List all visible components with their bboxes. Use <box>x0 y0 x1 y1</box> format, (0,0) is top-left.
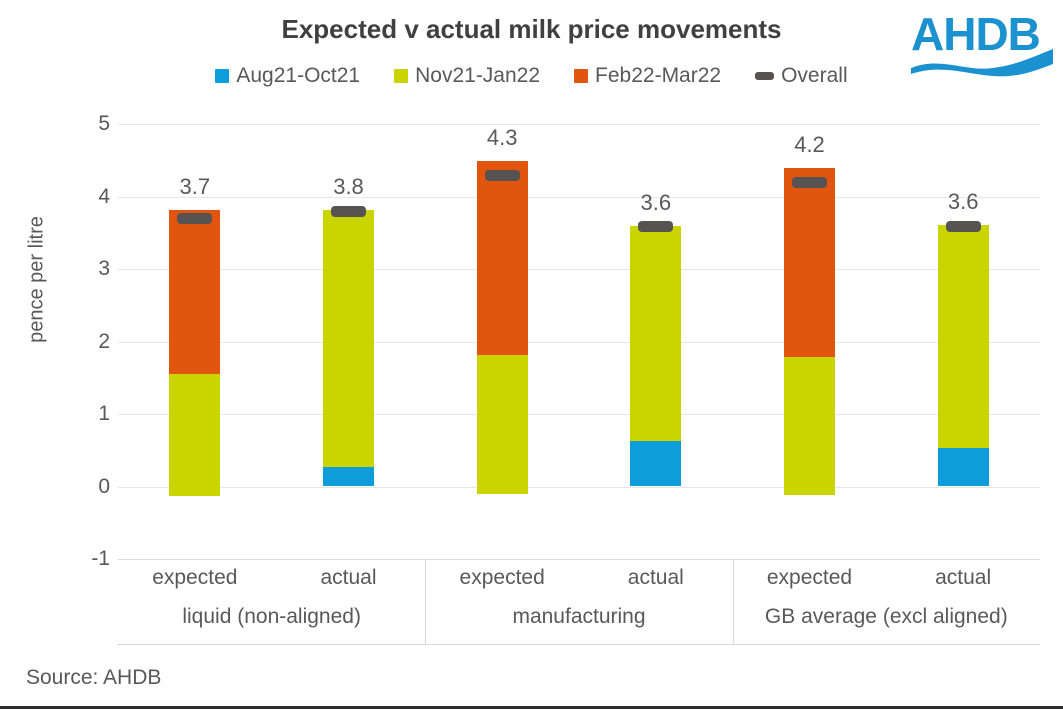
bar-segment <box>630 441 681 487</box>
legend-label: Nov21-Jan22 <box>415 64 540 88</box>
legend-swatch-overall-dash <box>755 72 774 80</box>
category-group: expectedactualmanufacturing <box>425 560 732 644</box>
bar-segment <box>477 355 528 494</box>
category-sub-label: actual <box>886 566 1040 590</box>
bar-value-label: 4.2 <box>775 132 845 158</box>
gridline <box>118 197 1040 198</box>
category-sub-label: actual <box>272 566 426 590</box>
chart-footer: Source: AHDB <box>0 651 1063 709</box>
y-axis-title: pence per litre <box>26 180 49 380</box>
plot-area: 3.73.84.33.64.23.6 <box>118 124 1040 559</box>
bar-segment <box>938 448 989 486</box>
bar-value-label: 3.6 <box>928 189 998 215</box>
y-axis-tick-label: 3 <box>98 257 110 281</box>
chart-container: Expected v actual milk price movements A… <box>0 0 1063 709</box>
overall-marker <box>331 206 366 217</box>
y-axis-tick-label: -1 <box>91 547 110 571</box>
bar-segment <box>784 168 835 358</box>
legend-swatch-blue <box>215 69 229 83</box>
legend-item-aug21-oct21[interactable]: Aug21-Oct21 <box>215 64 360 88</box>
category-sub-label: actual <box>579 566 733 590</box>
legend-item-feb22-mar22[interactable]: Feb22-Mar22 <box>574 64 721 88</box>
y-axis-tick-label: 0 <box>98 475 110 499</box>
overall-marker <box>638 221 673 232</box>
bar-segment <box>169 210 220 375</box>
bar-value-label: 3.8 <box>314 174 384 200</box>
bar-expected[interactable] <box>784 124 835 559</box>
legend-item-nov21-jan22[interactable]: Nov21-Jan22 <box>394 64 540 88</box>
y-axis-tick-label: 5 <box>98 112 110 136</box>
category-sub-label: expected <box>733 566 887 590</box>
overall-marker <box>485 170 520 181</box>
legend-swatch-green <box>394 69 408 83</box>
legend-label: Aug21-Oct21 <box>236 64 360 88</box>
overall-marker <box>177 213 212 224</box>
category-group: expectedactualliquid (non-aligned) <box>118 560 425 644</box>
gridline <box>118 487 1040 488</box>
bar-segment <box>784 357 835 495</box>
gridline <box>118 342 1040 343</box>
category-axis: expectedactualliquid (non-aligned)expect… <box>118 559 1040 645</box>
legend-swatch-orange <box>574 69 588 83</box>
category-group: expectedactualGB average (excl aligned) <box>733 560 1040 644</box>
category-group-label: liquid (non-aligned) <box>118 605 425 629</box>
bar-segment <box>477 161 528 355</box>
page-title: Expected v actual milk price movements <box>0 14 1063 45</box>
y-axis-tick-label: 4 <box>98 185 110 209</box>
chart-legend: Aug21-Oct21 Nov21-Jan22 Feb22-Mar22 Over… <box>0 64 1063 88</box>
overall-marker <box>792 177 827 188</box>
bar-value-label: 4.3 <box>467 125 537 151</box>
bar-expected[interactable] <box>477 124 528 559</box>
category-group-label: GB average (excl aligned) <box>733 605 1040 629</box>
category-sub-label: expected <box>425 566 579 590</box>
legend-label: Overall <box>781 64 848 88</box>
gridline <box>118 269 1040 270</box>
bar-segment <box>938 225 989 448</box>
legend-label: Feb22-Mar22 <box>595 64 721 88</box>
legend-item-overall[interactable]: Overall <box>755 64 848 88</box>
category-sub-label: expected <box>118 566 272 590</box>
bar-segment <box>630 226 681 441</box>
y-axis-tick-labels: 543210-1 <box>58 124 110 559</box>
bar-value-label: 3.6 <box>621 190 691 216</box>
y-axis-tick-label: 1 <box>98 402 110 426</box>
svg-text:AHDB: AHDB <box>911 8 1040 60</box>
source-label: Source: AHDB <box>26 666 161 690</box>
bar-value-label: 3.7 <box>160 174 230 200</box>
category-group-label: manufacturing <box>425 605 732 629</box>
bar-segment <box>323 210 374 467</box>
bar-segment <box>323 467 374 487</box>
bar-segment <box>169 374 220 496</box>
y-axis-tick-label: 2 <box>98 330 110 354</box>
gridline <box>118 414 1040 415</box>
gridline <box>118 124 1040 125</box>
overall-marker <box>946 221 981 232</box>
